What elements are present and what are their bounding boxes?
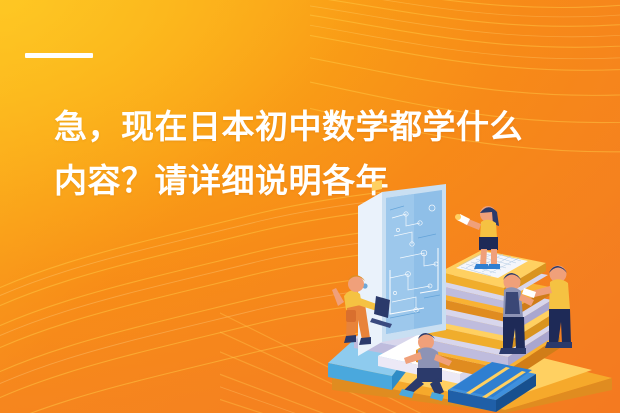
promo-banner: 急，现在日本初中数学都学什么 内容？请详细说明各年	[0, 0, 620, 413]
accent-bar	[25, 53, 93, 58]
headline-text: 急，现在日本初中数学都学什么 内容？请详细说明各年	[54, 100, 532, 208]
